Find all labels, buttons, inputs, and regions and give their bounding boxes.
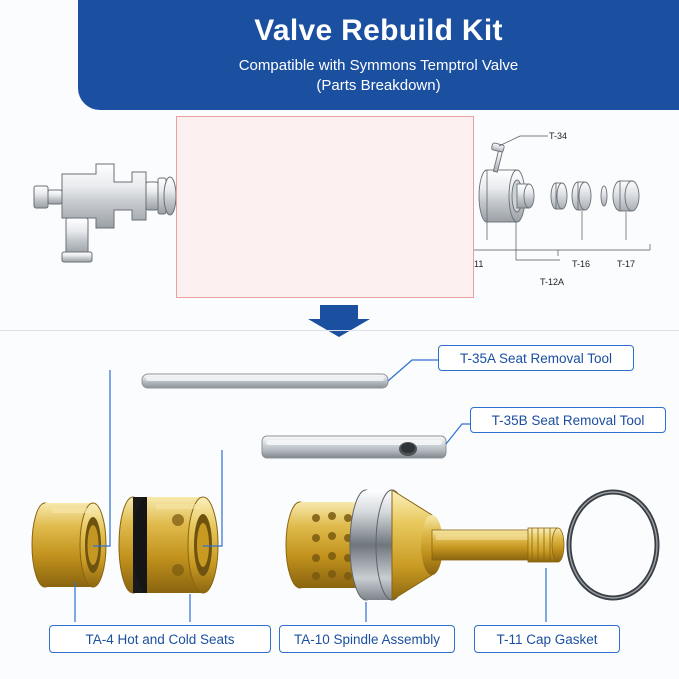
t11-gasket-graphic — [569, 492, 657, 598]
valve-body-graphic — [34, 164, 176, 262]
callout-t35a[interactable]: T-35A Seat Removal Tool — [438, 345, 634, 371]
callout-ta4[interactable]: TA-4 Hot and Cold Seats — [49, 625, 271, 653]
callout-t11-label: T-11 Cap Gasket — [496, 632, 597, 647]
part-t34-screw — [491, 143, 504, 173]
ta4-seat-1-graphic — [32, 503, 106, 587]
exploded-parts-diagram: T-35A T-35B T-34 T-1 T-2 T-3 T-5 T-6 T-7… — [0, 110, 679, 310]
header-banner: Valve Rebuild Kit Compatible with Symmon… — [78, 0, 679, 110]
callout-t35b-label: T-35B Seat Removal Tool — [492, 413, 645, 428]
page-title: Valve Rebuild Kit — [78, 14, 679, 48]
callout-ta10-label: TA-10 Spindle Assembly — [294, 632, 440, 647]
subtitle-line-2: (Parts Breakdown) — [316, 77, 440, 94]
page-subtitle: Compatible with Symmons Temptrol Valve (… — [78, 56, 679, 96]
t35b-tool-graphic — [262, 436, 446, 458]
ta10-spindle-graphic — [286, 490, 564, 600]
label-t-12a: T-12A — [540, 277, 564, 287]
header-left-gutter — [0, 0, 80, 110]
callout-ta4-label: TA-4 Hot and Cold Seats — [85, 632, 234, 647]
parts-cap-group — [479, 170, 534, 222]
product-infographic: Valve Rebuild Kit Compatible with Symmon… — [0, 0, 679, 679]
section-divider — [0, 330, 679, 331]
callout-t35b[interactable]: T-35B Seat Removal Tool — [470, 407, 666, 433]
label-t-34: T-34 — [549, 131, 567, 141]
highlight-region — [176, 116, 474, 298]
parts-rings — [551, 181, 639, 211]
callout-t35a-label: T-35A Seat Removal Tool — [460, 351, 612, 366]
t35a-tool-graphic — [142, 374, 388, 388]
subtitle-line-1: Compatible with Symmons Temptrol Valve — [239, 57, 519, 74]
label-t-17: T-17 — [617, 259, 635, 269]
callout-t11[interactable]: T-11 Cap Gasket — [474, 625, 620, 653]
label-t-16: T-16 — [572, 259, 590, 269]
callout-ta10[interactable]: TA-10 Spindle Assembly — [279, 625, 455, 653]
ta4-seat-2-graphic — [119, 497, 218, 593]
